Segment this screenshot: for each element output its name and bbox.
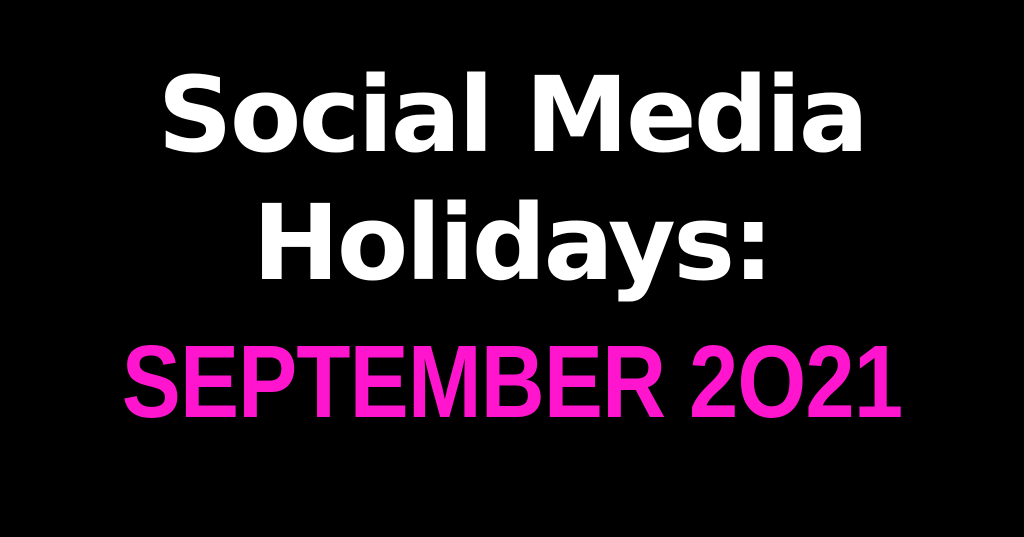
headline-block: Social Media Holidays: SEPTEMBER 2O21 [0,0,1024,537]
title-line-secondary: Holidays: [0,191,1024,295]
title-line-primary: Social Media [0,63,1024,167]
poster-canvas: Social Media Holidays: SEPTEMBER 2O21 [0,0,1024,537]
accent-line-month-year: SEPTEMBER 2O21 [72,330,953,433]
